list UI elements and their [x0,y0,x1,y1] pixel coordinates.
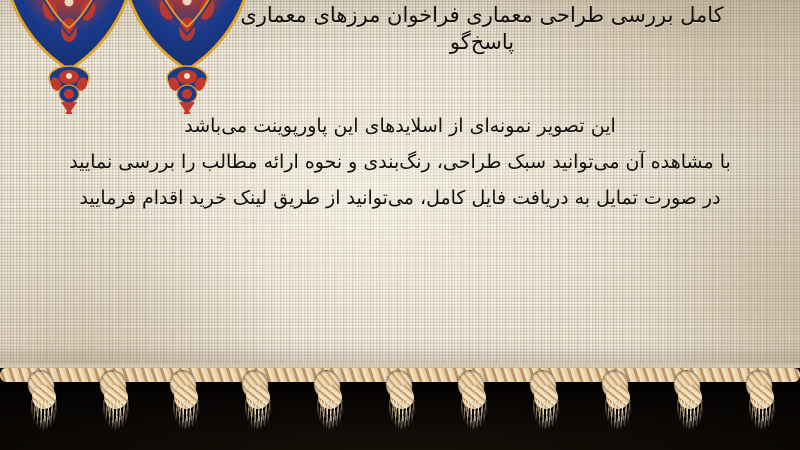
carpet-fringe [0,368,800,450]
fringe-tassel [520,368,576,450]
body-line-3: در صورت تمایل به دریافت فایل کامل، می‌تو… [0,180,800,216]
slide-title: کامل بررسی طراحی معماری فراخوان مرزهای م… [182,2,782,56]
fringe-tassel [160,368,216,450]
slide-title-line-1: کامل بررسی طراحی معماری فراخوان مرزهای م… [182,2,782,29]
fringe-tassel [376,368,432,450]
fringe-tassel [592,368,648,450]
slide-canvas: کامل بررسی طراحی معماری فراخوان مرزهای م… [0,0,800,450]
fringe-tassel [736,368,792,450]
fringe-tassel [664,368,720,450]
body-line-1: این تصویر نمونه‌ای از اسلایدهای این پاور… [0,108,800,144]
fringe-tassel [18,368,74,450]
slide-title-line-2: پاسخ‌گو [182,29,782,56]
fringe-tassel [304,368,360,450]
fringe-tassel [90,368,146,450]
carpet-medallion-ornament [10,0,128,118]
slide-body: این تصویر نمونه‌ای از اسلایدهای این پاور… [0,108,800,216]
fringe-tassel [232,368,288,450]
fringe-tassel [448,368,504,450]
body-line-2: با مشاهده آن می‌توانید سبک طراحی، رنگ‌بن… [0,144,800,180]
